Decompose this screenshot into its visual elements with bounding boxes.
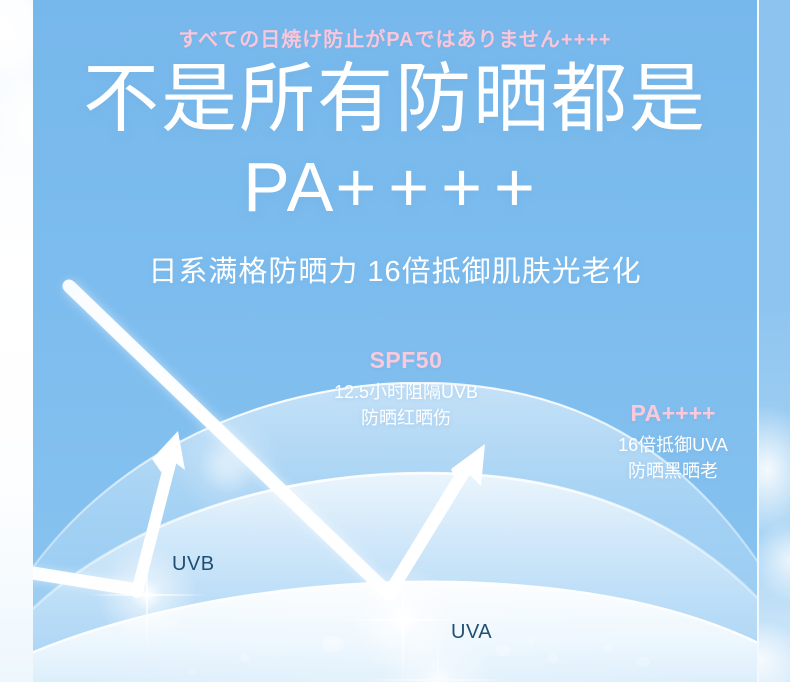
headline-line-2: PA++++: [33, 152, 757, 222]
pa-line-2: 防晒黑晒老: [563, 458, 757, 484]
pa-title-plus: ++++: [662, 400, 716, 426]
right-sky-edge-strip: [757, 0, 790, 682]
sunscreen-promo-poster: すべての日焼け防止がPAではありません++++ 不是所有防晒都是 PA++++ …: [0, 0, 790, 682]
spf-title: SPF50: [286, 347, 526, 374]
headline-line-1: 不是所有防晒都是: [33, 62, 757, 138]
incoming-uva-ray: [69, 286, 389, 594]
pa-title-base: PA: [631, 400, 662, 426]
poster-main-stage: すべての日焼け防止がPAではありません++++ 不是所有防晒都是 PA++++ …: [33, 0, 757, 682]
sub-headline: 日系满格防晒力 16倍抵御肌肤光老化: [33, 248, 757, 290]
uva-ray-label: UVA: [451, 621, 492, 644]
spf-info-block: SPF50 12.5小时阻隔UVB 防晒红晒伤: [286, 347, 526, 431]
headline-pa-plus: ++++: [335, 148, 547, 226]
uvb-ray-label: UVB: [172, 553, 215, 576]
pa-line-1: 16倍抵御UVA: [563, 432, 757, 458]
spf-line-2: 防晒红晒伤: [286, 405, 526, 431]
incoming-uvb-ray: [33, 568, 137, 590]
japanese-tagline: すべての日焼け防止がPAではありません++++: [33, 23, 757, 52]
pa-title: PA++++: [563, 400, 757, 427]
left-cloud-edge-strip: [0, 0, 33, 682]
headline-pa-text: PA: [243, 148, 335, 226]
pa-info-block: PA++++ 16倍抵御UVA 防晒黑晒老: [563, 400, 757, 484]
spf-line-1: 12.5小时阻隔UVB: [286, 379, 526, 405]
uva-reflected-arrow: [389, 444, 485, 594]
